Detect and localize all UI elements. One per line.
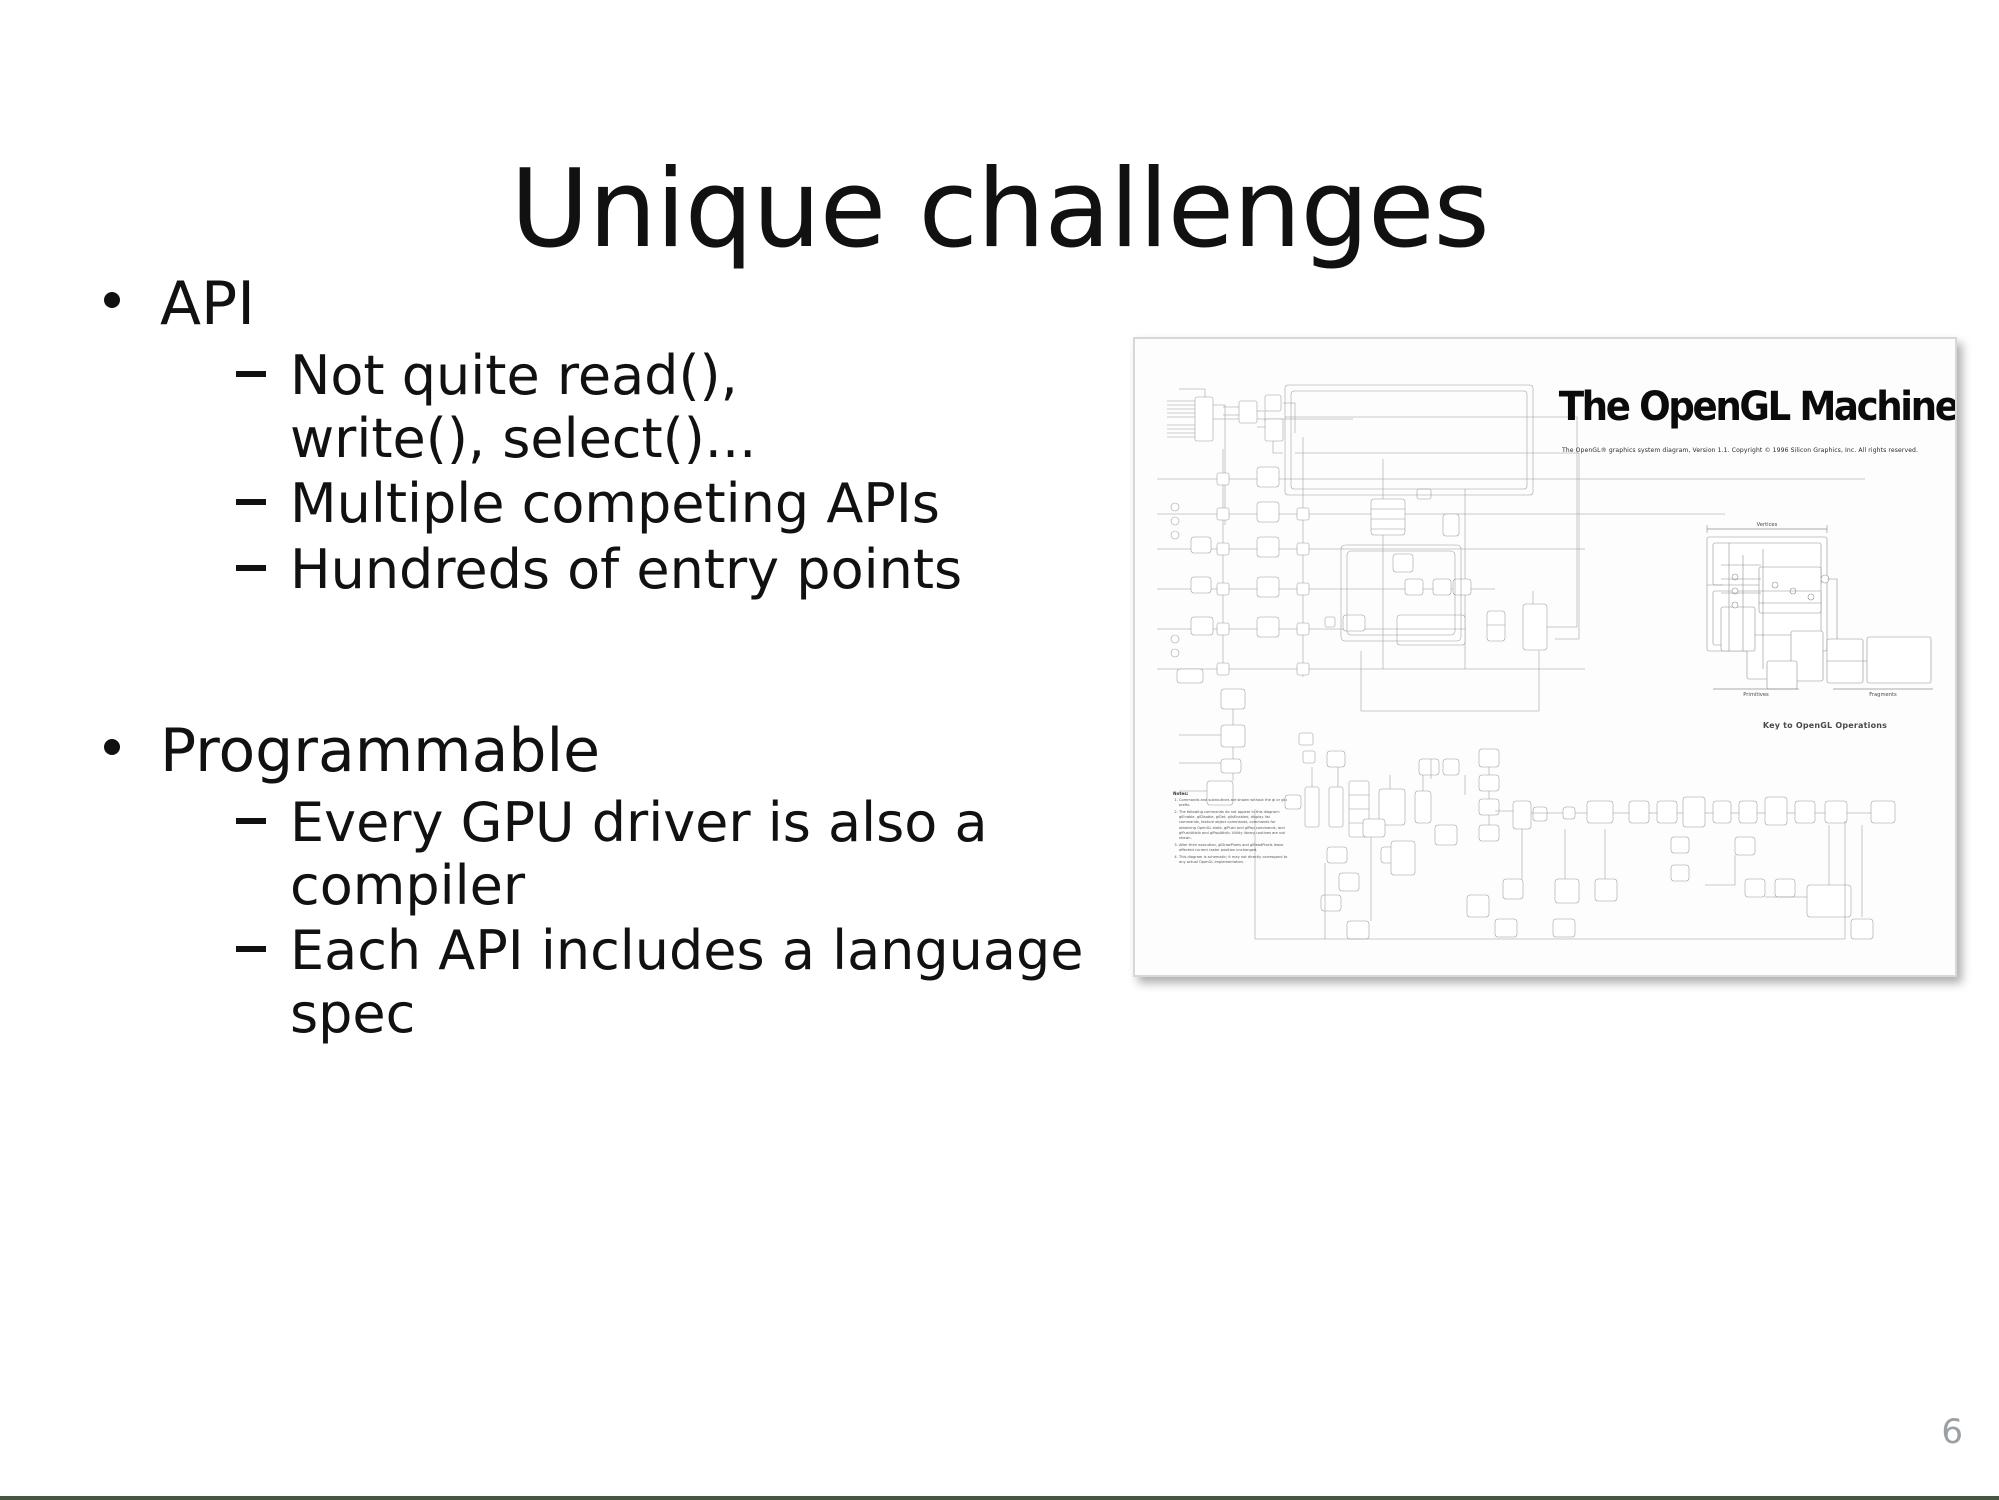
slide-bottom-rule — [0, 1496, 1999, 1500]
bullet-dot-icon — [104, 739, 120, 755]
opengl-pipeline-diagram: Vertices Primitives Fragments — [1135, 339, 1955, 975]
poster-notes-list: Commands and subroutines are shown witho… — [1173, 798, 1291, 865]
poster-note-item: Commands and subroutines are shown witho… — [1179, 798, 1291, 808]
key-label-vertices: Vertices — [1757, 522, 1778, 528]
sub-bullet-item: Hundreds of entry points — [236, 538, 1106, 601]
sub-bullet-label: Every GPU driver is also a compiler — [290, 791, 1106, 917]
bullet-list-level1: API Not quite read(), write(), select().… — [96, 268, 1106, 1045]
key-to-opengl-operations-inset — [1707, 525, 1933, 689]
poster-note-item: After their execution, glDrawPixels and … — [1179, 843, 1291, 853]
dash-bullet-icon — [236, 946, 266, 952]
sub-bullet-label: Hundreds of entry points — [290, 538, 1106, 601]
sub-bullet-item: Multiple competing APIs — [236, 472, 1106, 535]
slide-page-number: 6 — [1941, 1412, 1963, 1452]
dash-bullet-icon — [236, 818, 266, 824]
bullet-group-programmable: Programmable Every GPU driver is also a … — [96, 715, 1106, 1046]
dash-bullet-icon — [236, 499, 266, 505]
bullet-dot-icon — [104, 292, 120, 308]
bullet-group-api: API Not quite read(), write(), select().… — [96, 268, 1106, 601]
sub-bullet-item: Not quite read(), write(), select()... — [236, 344, 1106, 470]
sub-bullet-label: Not quite read(), write(), select()... — [290, 344, 1106, 470]
bullet-label-api: API — [160, 268, 1106, 340]
page-title: Unique challenges — [0, 150, 1999, 271]
opengl-machine-image: Vertices Primitives Fragments The OpenGL… — [1133, 337, 1957, 977]
dash-bullet-icon — [236, 371, 266, 377]
poster-subtitle: The OpenGL® graphics system diagram, Ver… — [1535, 447, 1945, 454]
bullet-group-spacer — [96, 607, 1106, 715]
key-label-fragments: Fragments — [1869, 692, 1897, 698]
dash-bullet-icon — [236, 565, 266, 571]
bullet-label-programmable: Programmable — [160, 715, 1106, 787]
poster-note-item: The following commands do not appear in … — [1179, 810, 1291, 841]
poster-notes: Notes: Commands and subroutines are show… — [1173, 791, 1291, 867]
poster-canvas: Vertices Primitives Fragments The OpenGL… — [1135, 339, 1955, 975]
slide-body: API Not quite read(), write(), select().… — [96, 268, 1106, 1051]
poster-title: The OpenGL Machine® — [1559, 387, 1924, 427]
bullet-list-level2-api: Not quite read(), write(), select()... M… — [160, 344, 1106, 601]
sub-bullet-item: Every GPU driver is also a compiler — [236, 791, 1106, 917]
sub-bullet-item: Each API includes a language spec — [236, 919, 1106, 1045]
sub-bullet-label: Each API includes a language spec — [290, 919, 1106, 1045]
sub-bullet-label: Multiple competing APIs — [290, 472, 1106, 535]
key-label-primitives: Primitives — [1743, 692, 1769, 698]
poster-note-item: This diagram is schematic; it may not di… — [1179, 855, 1291, 865]
poster-notes-heading: Notes: — [1173, 791, 1291, 797]
slide: Unique challenges API Not quite read(), … — [0, 0, 1999, 1500]
bullet-list-level2-programmable: Every GPU driver is also a compiler Each… — [160, 791, 1106, 1046]
key-to-opengl-operations-caption: Key to OpenGL Operations — [1695, 721, 1955, 730]
